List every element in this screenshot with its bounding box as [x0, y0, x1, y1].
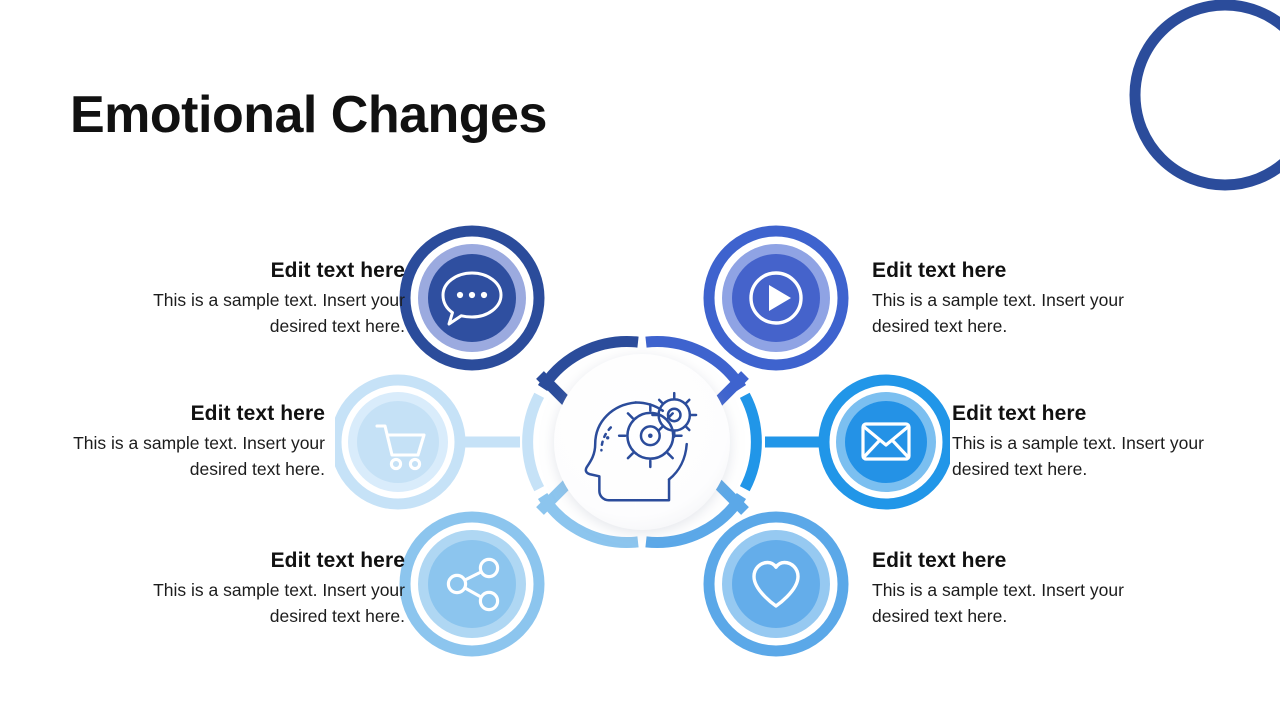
node-cart-disc — [357, 401, 439, 483]
text-body: This is a sample text. Insert your desir… — [872, 288, 1172, 339]
text-heading: Edit text here — [105, 258, 405, 284]
node-heart-disc — [732, 540, 820, 628]
slide-canvas: Emotional Changes — [0, 0, 1280, 720]
corner-ring-icon — [1040, 0, 1280, 230]
node-chat[interactable] — [405, 231, 539, 365]
text-body: This is a sample text. Insert your desir… — [872, 578, 1172, 629]
text-block-chat: Edit text here This is a sample text. In… — [105, 258, 405, 339]
text-heading: Edit text here — [952, 401, 1252, 427]
text-heading: Edit text here — [105, 548, 405, 574]
node-share[interactable] — [405, 517, 539, 651]
text-block-mail: Edit text here This is a sample text. In… — [952, 401, 1252, 482]
text-heading: Edit text here — [872, 548, 1172, 574]
page-title: Emotional Changes — [70, 88, 547, 143]
node-mail-disc — [845, 401, 927, 483]
text-block-cart: Edit text here This is a sample text. In… — [25, 401, 325, 482]
node-cart[interactable] — [336, 380, 460, 504]
text-block-share: Edit text here This is a sample text. In… — [105, 548, 405, 629]
text-body: This is a sample text. Insert your desir… — [952, 431, 1252, 482]
node-mail[interactable] — [824, 380, 948, 504]
hub-arc-cart — [528, 395, 540, 488]
hub-arc-mail — [745, 395, 757, 488]
text-block-play: Edit text here This is a sample text. In… — [872, 258, 1172, 339]
hub-and-spoke-svg — [335, 205, 950, 680]
infographic-diagram — [335, 205, 950, 680]
node-heart[interactable] — [709, 517, 843, 651]
text-heading: Edit text here — [25, 401, 325, 427]
node-play[interactable] — [709, 231, 843, 365]
text-body: This is a sample text. Insert your desir… — [105, 288, 405, 339]
text-body: This is a sample text. Insert your desir… — [25, 431, 325, 482]
text-body: This is a sample text. Insert your desir… — [105, 578, 405, 629]
text-block-heart: Edit text here This is a sample text. In… — [872, 548, 1172, 629]
node-share-disc — [428, 540, 516, 628]
text-heading: Edit text here — [872, 258, 1172, 284]
